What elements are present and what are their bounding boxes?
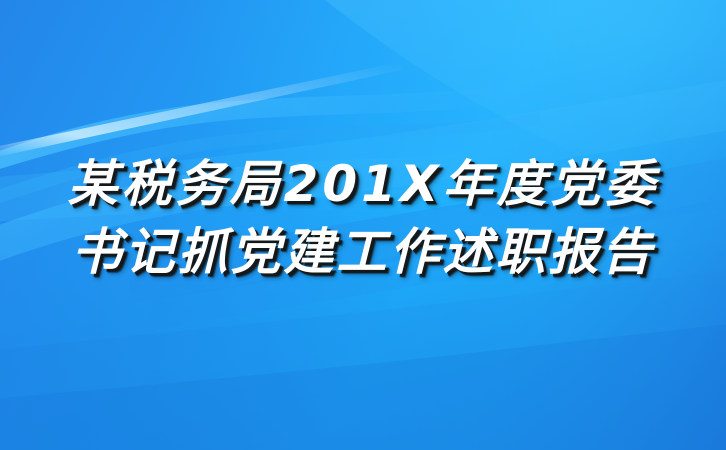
title-slide: 某税务局201X年度党委 书记抓党建工作述职报告 bbox=[0, 0, 726, 450]
title-line-1: 某税务局201X年度党委 bbox=[0, 150, 726, 218]
title-line-2: 书记抓党建工作述职报告 bbox=[0, 218, 726, 286]
slide-title: 某税务局201X年度党委 书记抓党建工作述职报告 bbox=[0, 150, 726, 286]
